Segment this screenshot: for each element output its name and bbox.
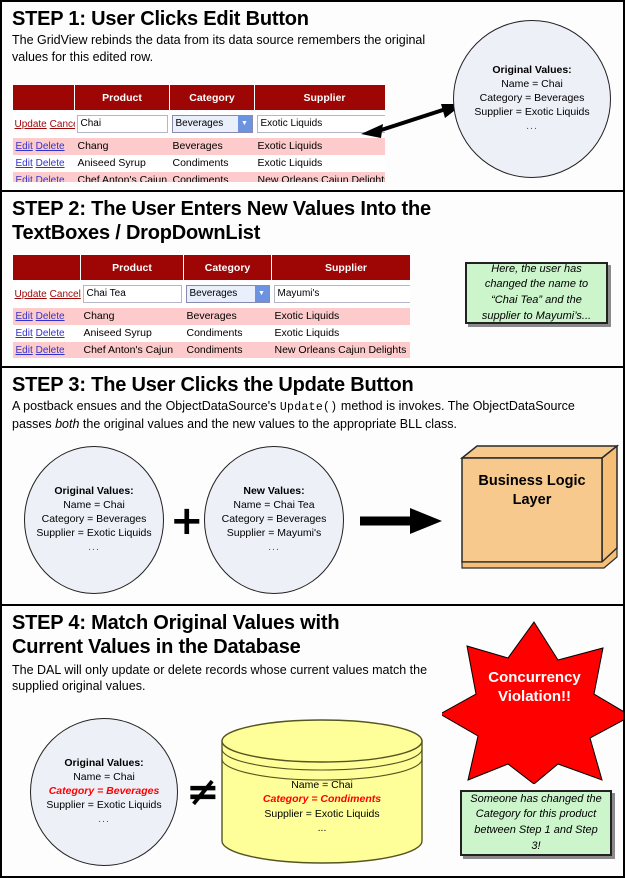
edit-row-product-cell: Chai Tea <box>81 281 184 308</box>
cancel-link[interactable]: Cancel <box>50 119 75 130</box>
edit-row-category-cell: Beverages▼ <box>170 111 255 138</box>
category-dropdown[interactable]: Beverages▼ <box>172 115 253 133</box>
row-commands: Edit Delete <box>13 138 75 155</box>
edit-row-product-cell: Chai <box>75 111 170 138</box>
bubble-line-1: Name = Chai Tea <box>233 499 314 513</box>
db-line-3: Supplier = Exotic Liquids <box>220 807 424 821</box>
step-2-note-text: Here, the user has changed the name to “… <box>475 262 598 324</box>
row-commands: Edit Delete <box>13 172 75 183</box>
update-link[interactable]: Update <box>15 289 47 300</box>
row-product: Aniseed Syrup <box>75 155 170 172</box>
step-1-description: The GridView rebinds the data from its d… <box>12 32 442 65</box>
bubble-line-2-highlight: Category = Beverages <box>49 785 160 799</box>
bubble-ellipsis: ... <box>88 541 100 555</box>
bubble-line-1: Name = Chai <box>63 499 125 513</box>
row-supplier: New Orleans Cajun Delights <box>255 172 386 183</box>
step-4-description: The DAL will only update or delete recor… <box>12 662 452 695</box>
delete-link[interactable]: Delete <box>36 328 65 339</box>
bubble-heading: New Values: <box>243 485 304 499</box>
step-2-note-callout: Here, the user has changed the name to “… <box>465 262 608 324</box>
col-product: Product <box>81 255 184 281</box>
row-product: Aniseed Syrup <box>81 325 184 342</box>
bubble-heading: Original Values: <box>54 485 133 499</box>
col-commands <box>13 255 81 281</box>
edit-link[interactable]: Edit <box>16 328 33 339</box>
category-dropdown-value: Beverages <box>176 118 224 129</box>
step-2-panel: STEP 2: The User Enters New Values Into … <box>2 192 623 368</box>
row-commands: Edit Delete <box>13 155 75 172</box>
delete-link[interactable]: Delete <box>36 175 65 182</box>
step-3-description: A postback ensues and the ObjectDataSour… <box>12 398 613 432</box>
bubble-line-2: Category = Beverages <box>480 92 585 106</box>
product-textbox[interactable]: Chai <box>77 115 168 133</box>
delete-link[interactable]: Delete <box>36 345 65 356</box>
col-commands <box>13 85 75 111</box>
desc-part-a: A postback ensues and the ObjectDataSour… <box>12 399 280 413</box>
row-supplier: Exotic Liquids <box>272 308 411 325</box>
chevron-down-icon: ▼ <box>238 116 252 132</box>
bubble-line-3: Supplier = Exotic Liquids <box>46 799 161 813</box>
row-supplier: Exotic Liquids <box>272 325 411 342</box>
original-values-bubble: Original Values: Name = Chai Category = … <box>453 20 611 178</box>
row-category: Condiments <box>170 172 255 183</box>
row-category: Condiments <box>170 155 255 172</box>
col-category: Category <box>170 85 255 111</box>
table-row[interactable]: Edit Delete Chef Anton's Cajun Condiment… <box>13 172 386 183</box>
bubble-line-3: Supplier = Exotic Liquids <box>474 106 589 120</box>
row-category: Beverages <box>184 308 272 325</box>
db-ellipsis: ... <box>220 821 424 835</box>
step-3-panel: STEP 3: The User Clicks the Update Butto… <box>2 368 623 606</box>
step-1-panel: STEP 1: User Clicks Edit Button The Grid… <box>2 2 623 192</box>
bubble-line-3: Supplier = Mayumi's <box>227 527 322 541</box>
edit-link[interactable]: Edit <box>16 311 33 322</box>
chevron-down-icon: ▼ <box>255 286 269 302</box>
edit-row-supplier-cell: Mayumi's <box>272 281 411 308</box>
delete-link[interactable]: Delete <box>36 311 65 322</box>
row-category: Beverages <box>170 138 255 155</box>
right-arrow-icon <box>358 504 446 538</box>
category-dropdown[interactable]: Beverages▼ <box>186 285 270 303</box>
gridview-step1[interactable]: Product Category Supplier Update Cancel … <box>12 84 385 182</box>
cancel-link[interactable]: Cancel <box>50 289 81 300</box>
step-4-panel: STEP 4: Match Original Values with Curre… <box>2 606 623 876</box>
star-icon <box>442 616 623 784</box>
row-commands: Edit Delete <box>13 308 81 325</box>
row-product: Chang <box>81 308 184 325</box>
diagram-page: STEP 1: User Clicks Edit Button The Grid… <box>0 0 625 878</box>
bubble-line-1: Name = Chai <box>501 78 563 92</box>
row-product: Chef Anton's Cajun <box>75 172 170 183</box>
gridview-step2[interactable]: Product Category Supplier Update Cancel … <box>12 254 410 358</box>
col-product: Product <box>75 85 170 111</box>
row-category: Condiments <box>184 325 272 342</box>
gridview-table: Product Category Supplier Update Cancel … <box>12 254 410 358</box>
bubble-line-2: Category = Beverages <box>222 513 327 527</box>
bubble-line-2: Category = Beverages <box>42 513 147 527</box>
gridview-header-row: Product Category Supplier <box>13 85 386 111</box>
row-commands: Edit Delete <box>13 342 81 359</box>
desc-part-c: the original values and the new values t… <box>79 417 457 431</box>
original-values-bubble: Original Values: Name = Chai Category = … <box>24 446 164 594</box>
row-product: Chang <box>75 138 170 155</box>
update-link[interactable]: Update <box>15 119 47 130</box>
bubble-heading: Original Values: <box>492 64 571 78</box>
bll-label-line2: Layer <box>462 491 602 510</box>
bubble-line-3: Supplier = Exotic Liquids <box>36 527 151 541</box>
row-category: Condiments <box>184 342 272 359</box>
desc-code: Update() <box>280 401 338 414</box>
step-3-title: STEP 3: The User Clicks the Update Butto… <box>12 374 613 396</box>
category-dropdown-value: Beverages <box>190 288 238 299</box>
col-supplier: Supplier <box>272 255 411 281</box>
plus-symbol: + <box>170 498 204 544</box>
gridview-edit-row[interactable]: Update Cancel Chai Tea Beverages▼ Mayumi… <box>13 281 411 308</box>
step-4-note-text: Someone has changed the Category for thi… <box>470 792 602 854</box>
db-line-2-highlight: Category = Condiments <box>220 792 424 806</box>
row-supplier: New Orleans Cajun Delights <box>272 342 411 359</box>
step-2-title-line2: TextBoxes / DropDownList <box>12 222 613 244</box>
bll-label-line1: Business Logic <box>462 472 602 491</box>
bll-label: Business Logic Layer <box>462 472 602 510</box>
edit-link[interactable]: Edit <box>16 175 33 182</box>
row-supplier: Exotic Liquids <box>255 155 386 172</box>
table-row[interactable]: Edit Delete Aniseed Syrup Condiments Exo… <box>13 155 386 172</box>
gridview-edit-row[interactable]: Update Cancel Chai Beverages▼ Exotic Liq… <box>13 111 386 138</box>
not-equal-symbol: ≠ <box>186 769 220 815</box>
edit-link[interactable]: Edit <box>16 141 33 152</box>
bubble-ellipsis: ... <box>98 813 110 827</box>
gridview-table: Product Category Supplier Update Cancel … <box>12 84 385 182</box>
edit-row-commands: Update Cancel <box>13 111 75 138</box>
table-row[interactable]: Edit Delete Aniseed Syrup Condiments Exo… <box>13 325 411 342</box>
step-2-title-line1: STEP 2: The User Enters New Values Into … <box>12 198 613 220</box>
concurrency-violation-star: Concurrency Violation!! <box>442 616 623 784</box>
edit-row-category-cell: Beverages▼ <box>184 281 272 308</box>
original-values-bubble: Original Values: Name = Chai Category = … <box>30 718 178 866</box>
step-4-note-callout: Someone has changed the Category for thi… <box>460 790 612 856</box>
delete-link[interactable]: Delete <box>36 158 65 169</box>
bubble-heading: Original Values: <box>64 757 143 771</box>
row-commands: Edit Delete <box>13 325 81 342</box>
table-row[interactable]: Edit Delete Chef Anton's Cajun Condiment… <box>13 342 411 359</box>
bubble-ellipsis: ... <box>268 541 280 555</box>
col-category: Category <box>184 255 272 281</box>
new-values-bubble: New Values: Name = Chai Tea Category = B… <box>204 446 344 594</box>
delete-link[interactable]: Delete <box>36 141 65 152</box>
supplier-textbox[interactable]: Mayumi's <box>274 285 411 303</box>
edit-row-commands: Update Cancel <box>13 281 81 308</box>
edit-link[interactable]: Edit <box>16 345 33 356</box>
table-row[interactable]: Edit Delete Chang Beverages Exotic Liqui… <box>13 308 411 325</box>
edit-link[interactable]: Edit <box>16 158 33 169</box>
product-textbox[interactable]: Chai Tea <box>83 285 182 303</box>
table-row[interactable]: Edit Delete Chang Beverages Exotic Liqui… <box>13 138 386 155</box>
db-line-1: Name = Chai <box>220 778 424 792</box>
bubble-ellipsis: ... <box>526 120 538 134</box>
double-arrow-icon <box>357 98 467 144</box>
desc-emphasis: both <box>55 417 79 431</box>
row-product: Chef Anton's Cajun <box>81 342 184 359</box>
gridview-header-row: Product Category Supplier <box>13 255 411 281</box>
database-values-label: Name = Chai Category = Condiments Suppli… <box>220 778 424 836</box>
bubble-line-1: Name = Chai <box>73 771 135 785</box>
